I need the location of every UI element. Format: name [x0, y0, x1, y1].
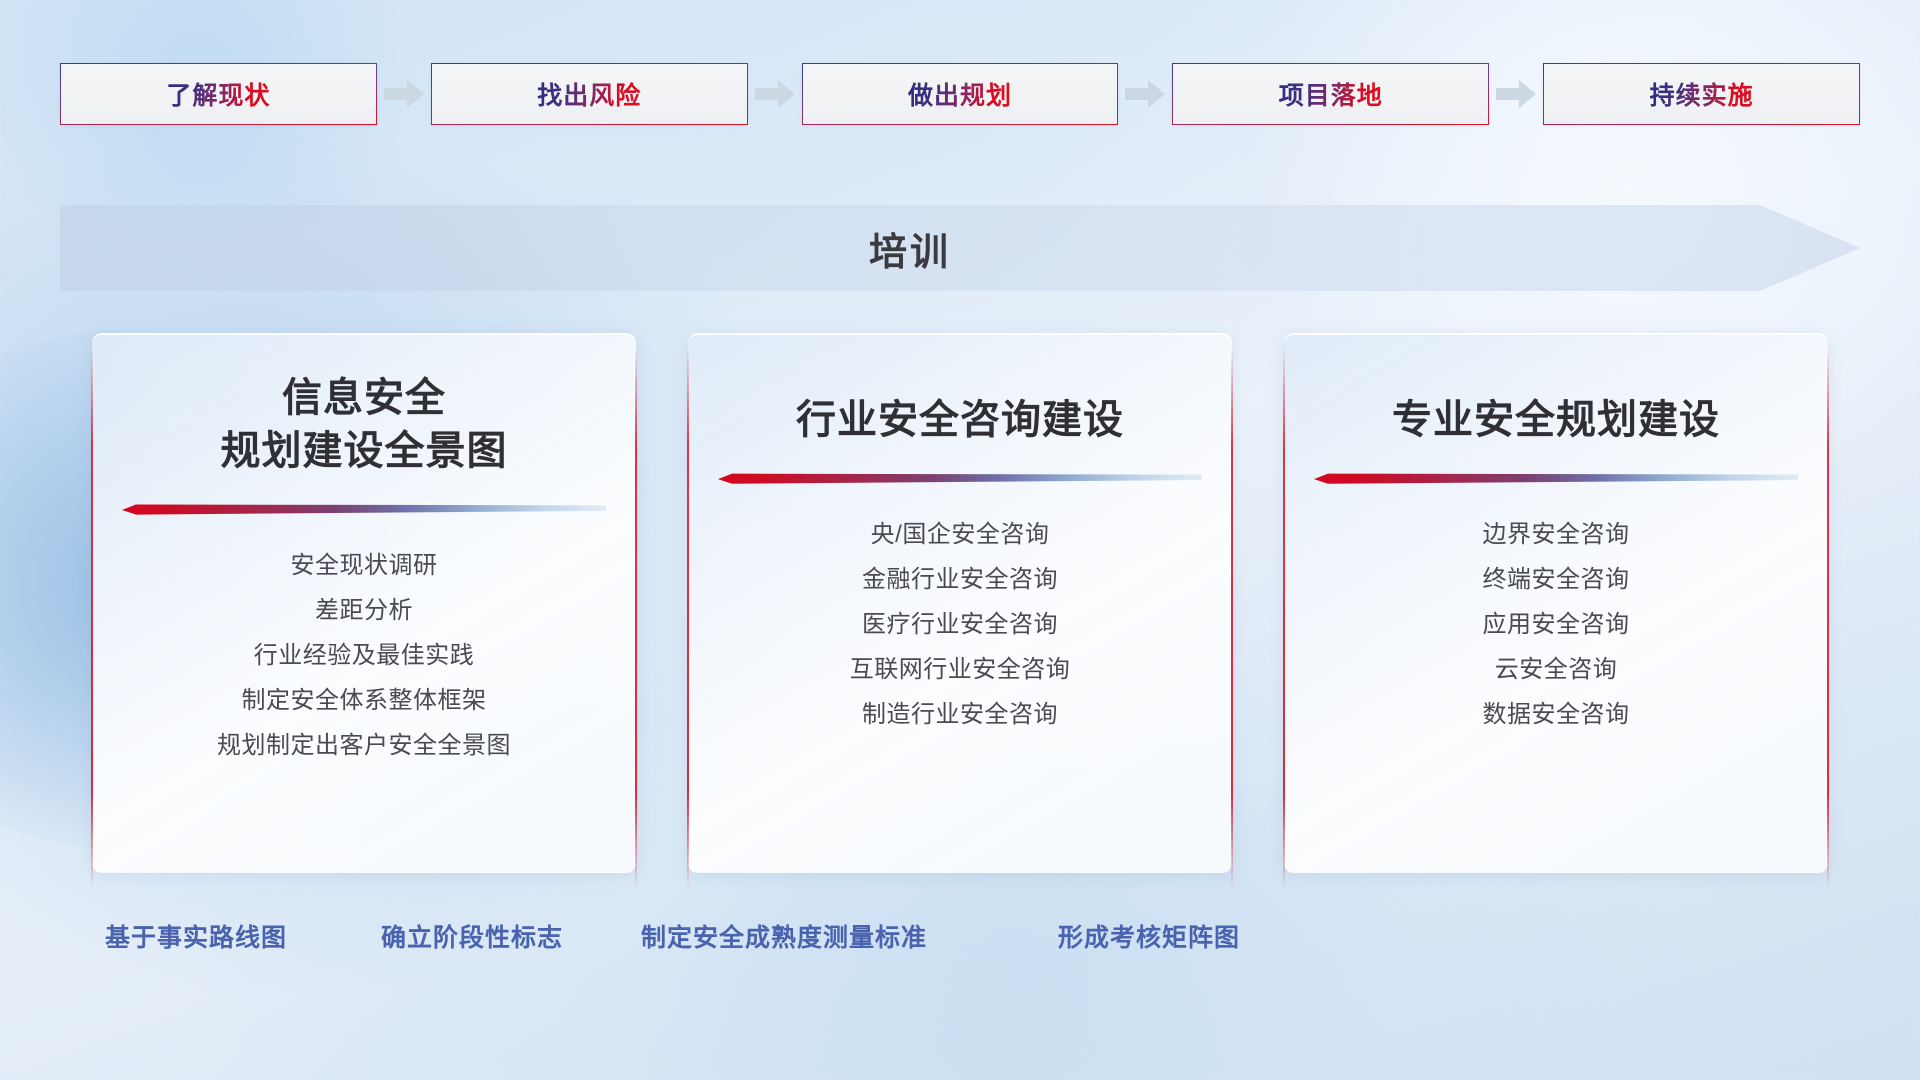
- list-item: 终端安全咨询: [1284, 558, 1828, 603]
- flow-step-0[interactable]: 了解现状: [60, 63, 377, 125]
- list-item: 互联网行业安全咨询: [688, 648, 1232, 693]
- divider-gradient-line: [1314, 473, 1798, 484]
- list-item: 规划制定出客户安全全景图: [92, 724, 636, 769]
- list-item: 数据安全咨询: [1284, 693, 1828, 738]
- card-row: 信息安全 规划建设全景图 安全现状调研 差距分析 行业经验及最佳实践 制定安全体…: [92, 333, 1828, 873]
- list-item: 应用安全咨询: [1284, 603, 1828, 648]
- card-item-list: 央/国企安全咨询 金融行业安全咨询 医疗行业安全咨询 互联网行业安全咨询 制造行…: [688, 513, 1232, 738]
- footer-label: 制定安全成熟度测量标准: [641, 918, 927, 954]
- card-divider: [122, 504, 606, 516]
- training-banner: 培训: [60, 205, 1860, 291]
- card-divider: [718, 473, 1202, 485]
- flow-step-3[interactable]: 项目落地: [1172, 63, 1489, 125]
- banner-title: 培训: [60, 205, 1860, 291]
- list-item: 金融行业安全咨询: [688, 558, 1232, 603]
- list-item: 差距分析: [92, 589, 636, 634]
- flow-step-2[interactable]: 做出规划: [802, 63, 1119, 125]
- card-title: 专业安全规划建设: [1314, 334, 1798, 447]
- list-item: 制定安全体系整体框架: [92, 679, 636, 724]
- list-item: 央/国企安全咨询: [688, 513, 1232, 558]
- card-industry-security-consulting[interactable]: 行业安全咨询建设 央/国企安全咨询 金融行业安全咨询 医疗行业安全咨询 互联网行…: [688, 333, 1232, 873]
- footer-label: 确立阶段性标志: [381, 918, 563, 954]
- list-item: 云安全咨询: [1284, 648, 1828, 693]
- card-professional-security-planning[interactable]: 专业安全规划建设 边界安全咨询 终端安全咨询 应用安全咨询 云安全咨询 数据安全…: [1284, 333, 1828, 873]
- flow-step-label: 找出风险: [537, 76, 641, 112]
- arrow-right-icon: [1118, 77, 1172, 111]
- divider-gradient-line: [122, 504, 606, 515]
- flow-step-4[interactable]: 持续实施: [1543, 63, 1860, 125]
- card-title: 行业安全咨询建设: [718, 334, 1202, 447]
- list-item: 安全现状调研: [92, 544, 636, 589]
- footer-label-row: 基于事实路线图 确立阶段性标志 制定安全成熟度测量标准 形成考核矩阵图: [0, 918, 1920, 958]
- flow-step-1[interactable]: 找出风险: [431, 63, 748, 125]
- flow-step-label: 做出规划: [908, 76, 1012, 112]
- footer-label: 形成考核矩阵图: [1058, 918, 1240, 954]
- card-title: 信息安全 规划建设全景图: [122, 334, 606, 478]
- flow-step-label: 持续实施: [1650, 76, 1754, 112]
- list-item: 边界安全咨询: [1284, 513, 1828, 558]
- card-item-list: 安全现状调研 差距分析 行业经验及最佳实践 制定安全体系整体框架 规划制定出客户…: [92, 544, 636, 769]
- list-item: 制造行业安全咨询: [688, 693, 1232, 738]
- arrow-right-icon: [1489, 77, 1543, 111]
- card-information-security-blueprint[interactable]: 信息安全 规划建设全景图 安全现状调研 差距分析 行业经验及最佳实践 制定安全体…: [92, 333, 636, 873]
- process-flow: 了解现状 找出风险 做出规划 项目落地 持续实施: [60, 63, 1860, 125]
- list-item: 医疗行业安全咨询: [688, 603, 1232, 648]
- divider-gradient-line: [718, 473, 1202, 484]
- card-divider: [1314, 473, 1798, 485]
- card-item-list: 边界安全咨询 终端安全咨询 应用安全咨询 云安全咨询 数据安全咨询: [1284, 513, 1828, 738]
- list-item: 行业经验及最佳实践: [92, 634, 636, 679]
- flow-step-label: 了解现状: [166, 76, 270, 112]
- arrow-right-icon: [377, 77, 431, 111]
- flow-step-label: 项目落地: [1279, 76, 1383, 112]
- arrow-right-icon: [748, 77, 802, 111]
- footer-label: 基于事实路线图: [105, 918, 287, 954]
